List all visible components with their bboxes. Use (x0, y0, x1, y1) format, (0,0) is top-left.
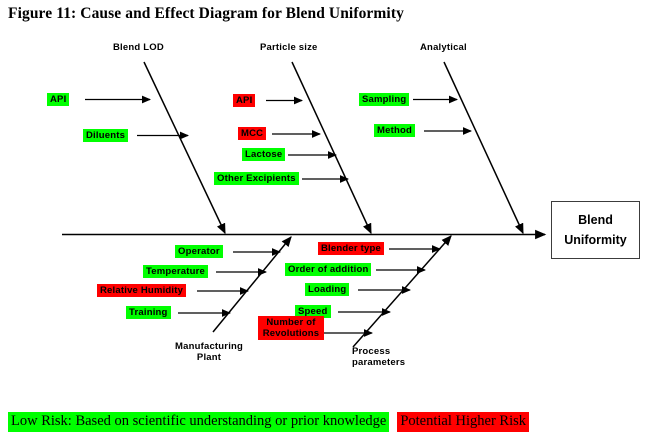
legend: Low Risk: Based on scientific understand… (8, 412, 529, 432)
effect-box: Blend Uniformity (551, 201, 640, 259)
cause-blendlod-diluents: Diluents (83, 129, 128, 142)
category-label-blend-lod: Blend LOD (113, 42, 164, 53)
cause-proc-blender-type: Blender type (318, 242, 384, 255)
effect-box-line2: Uniformity (564, 230, 627, 250)
legend-low-risk: Low Risk: Based on scientific understand… (8, 412, 389, 432)
category-label-manufacturing-plant-line1: Manufacturing (175, 341, 243, 352)
category-label-process-parameters: Process parameters (352, 346, 405, 368)
cause-blendlod-api: API (47, 93, 69, 106)
effect-box-line1: Blend (578, 210, 613, 230)
cause-particlesize-mcc: MCC (238, 127, 266, 140)
category-label-process-parameters-line2: parameters (352, 357, 405, 368)
branch-particle-size (292, 62, 371, 233)
cause-particlesize-api: API (233, 94, 255, 107)
cause-mfg-temperature: Temperature (143, 265, 208, 278)
branch-blend-lod (144, 62, 225, 233)
cause-mfg-operator: Operator (175, 245, 223, 258)
category-label-analytical: Analytical (420, 42, 467, 53)
category-label-particle-size: Particle size (260, 42, 318, 53)
category-label-manufacturing-plant: Manufacturing Plant (175, 341, 243, 363)
branch-analytical (444, 62, 523, 233)
cause-mfg-relative-humidity: Relative Humidity (97, 284, 186, 297)
cause-particlesize-lactose: Lactose (242, 148, 285, 161)
cause-analytical-method: Method (374, 124, 415, 137)
cause-proc-order-of-addition: Order of addition (285, 263, 371, 276)
cause-mfg-training: Training (126, 306, 171, 319)
category-label-manufacturing-plant-line2: Plant (175, 352, 243, 363)
fishbone-diagram-canvas (0, 0, 645, 443)
cause-proc-loading: Loading (305, 283, 349, 296)
cause-proc-number-of-revolutions: Number of Revolutions (258, 316, 324, 340)
category-label-process-parameters-line1: Process (352, 346, 390, 357)
cause-analytical-sampling: Sampling (359, 93, 409, 106)
cause-particlesize-other-excipients: Other Excipients (214, 172, 299, 185)
legend-high-risk: Potential Higher Risk (397, 412, 529, 432)
